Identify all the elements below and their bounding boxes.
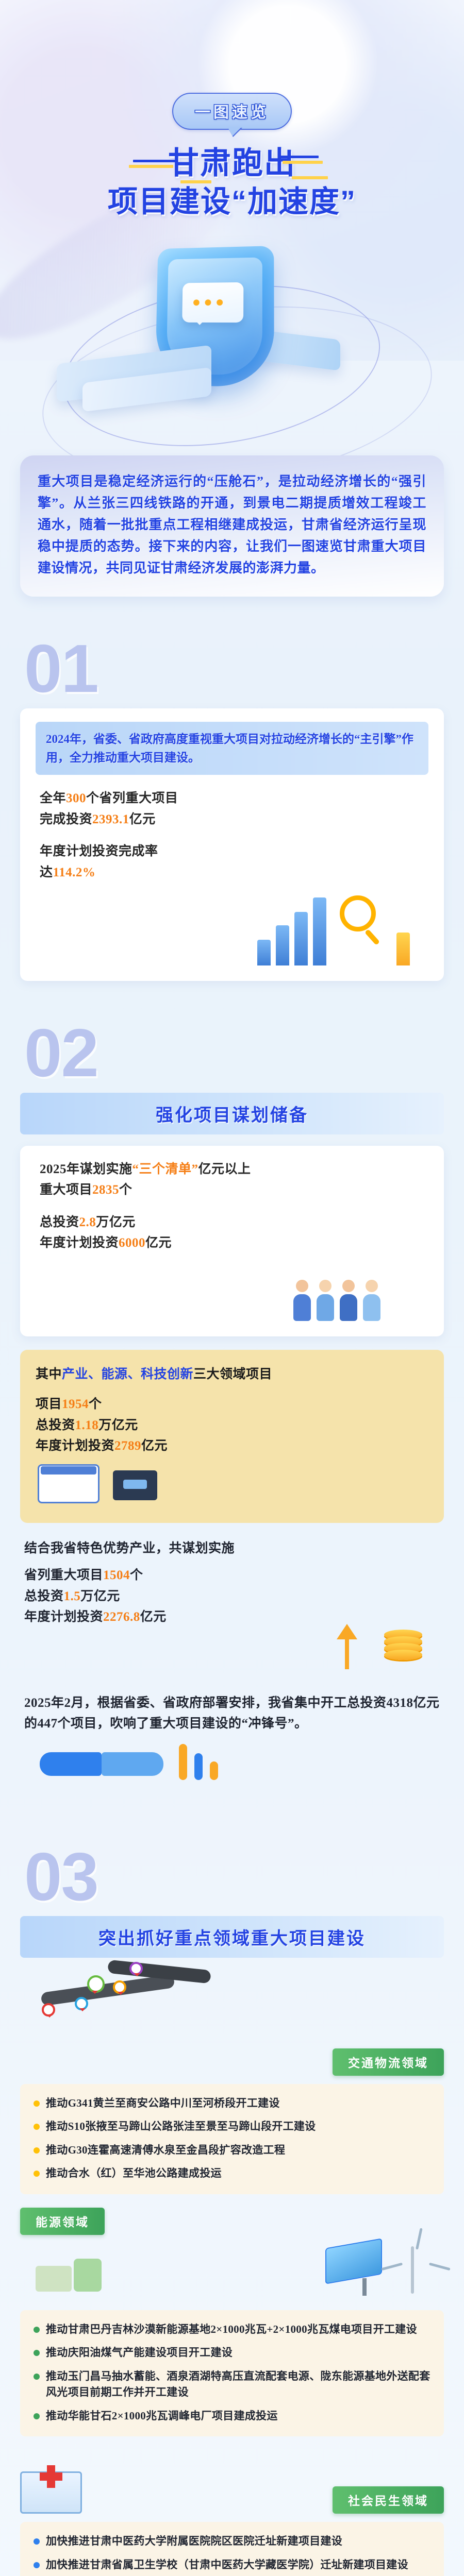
stat-row: 2025年谋划实施“三个清单”亿元以上 (40, 1159, 428, 1180)
domain-badge-row-social: 社会民生领域 (333, 2486, 444, 2514)
quick-view-badge-label: 一图速览 (195, 104, 269, 121)
domain-energy-list: 推动甘肃巴丹吉林沙漠新能源基地2×1000兆瓦+2×1000兆瓦煤电项目开工建设… (20, 2310, 444, 2437)
domain-badge-row-energy: 能源领域 (20, 2208, 444, 2235)
energy-illustration (20, 2235, 444, 2302)
section-02-card: 2025年谋划实施“三个清单”亿元以上 重大项目2835个 总投资2.8万亿元 … (20, 1146, 444, 1336)
stat-value: 2835 (92, 1183, 119, 1197)
domain-social-list: 加快推进甘肃中医药大学附属医院院区医院迁址新建项目建设 加快推进甘肃省属卫生学校… (20, 2522, 444, 2576)
section-03: 03 突出抓好重点领域重大项目建设 交通物流领域 (20, 1849, 444, 2576)
stat-row: 项目1954个 (36, 1394, 428, 1415)
list-item-text: 推动G341黄兰至商安公路中川至河桥段开工建设 (46, 2095, 280, 2112)
stat-row: 全年300个省列重大项目 (40, 788, 428, 809)
list-item: 加快推进甘肃中医药大学附属医院院区医院迁址新建项目建设 (34, 2533, 430, 2550)
stat-suffix: 个 (130, 1568, 143, 1582)
people-illustration (36, 1254, 428, 1321)
amber-headline-highlight: 产业、能源、科技创新 (62, 1367, 193, 1381)
list-item-text: 推动华能甘石2×1000兆瓦调峰电厂项目建成投运 (46, 2408, 278, 2425)
bar-icon (194, 1753, 203, 1780)
intro-card: 重大项目是稳定经济运行的“压舱石”，是拉动经济增长的“强引擎”。从兰张三四线铁路… (20, 455, 444, 597)
dashboard-titlebar (41, 1466, 96, 1475)
chat-bubble-icon (182, 282, 243, 323)
list-item-text: 推动庆阳油煤气产能建设项目开工建设 (46, 2345, 233, 2361)
chart-bar (294, 912, 308, 965)
stat-prefix: 省列重大项目 (24, 1568, 103, 1582)
hand-right-icon (102, 1752, 163, 1776)
section-02-stats: 2025年谋划实施“三个清单”亿元以上 重大项目2835个 总投资2.8万亿元 … (36, 1159, 428, 1254)
chart-bar (276, 925, 289, 965)
section-03-banner: 突出抓好重点领域重大项目建设 (20, 1916, 444, 1958)
stat-prefix: 总投资 (40, 1215, 79, 1229)
stat-suffix: 个 (89, 1397, 102, 1411)
list-item-text: 加快推进甘肃省属卫生学校（甘肃中医药大学藏医学院）迁址新建项目建设 (46, 2557, 408, 2573)
stat-row: 总投资1.18万亿元 (36, 1415, 428, 1436)
bar-icon (210, 1761, 218, 1780)
section-02-banner-title: 强化项目谋划储备 (29, 1101, 435, 1126)
stat-prefix: 年度计划投资完成率 (40, 844, 158, 858)
stat-suffix: 万亿元 (80, 1589, 120, 1603)
stat-row: 达114.2% (40, 862, 428, 884)
stat-value: 6000 (119, 1236, 145, 1250)
bullet-dot-icon (34, 2327, 40, 2333)
section-01-lead-text: 2024年，省委、省政府高度重视重大项目对拉动经济增长的“主引擎”作用，全力推动… (46, 730, 418, 767)
solar-panel-pole (362, 2278, 367, 2296)
domain-energy: 能源领域 推动甘肃巴丹吉林沙漠新能源基地2×1000兆瓦+2×1000兆瓦煤电项… (20, 2208, 444, 2437)
stat-suffix: 亿元 (129, 812, 156, 826)
hand-left-icon (40, 1752, 102, 1776)
stat-value: 2789 (114, 1439, 141, 1453)
stat-suffix: 万亿元 (96, 1215, 136, 1229)
page-title: 甘肃跑出 项目建设“加速度” (0, 144, 464, 221)
bullet-dot-icon (34, 2171, 40, 2177)
domain-badge-energy: 能源领域 (20, 2208, 105, 2235)
stat-prefix: 项目 (36, 1397, 62, 1411)
section-02: 02 强化项目谋划储备 2025年谋划实施“三个清单”亿元以上 重大项目2835… (20, 1025, 444, 1804)
list-item: 推动玉门昌马抽水蓄能、酒泉酒湖特高压直流配套电源、陇东能源基地外送配套风光项目前… (34, 2368, 430, 2401)
bar-icon (179, 1744, 187, 1780)
stat-row: 年度计划投资2276.8亿元 (24, 1607, 440, 1628)
stat-prefix: 重大项目 (40, 1183, 92, 1197)
road-illustration (20, 1958, 444, 2035)
chart-bar-accent (396, 933, 410, 965)
hero-illustration (0, 226, 464, 432)
domain-badge-social: 社会民生领域 (333, 2486, 444, 2514)
list-item: 推动S10张掖至马蹄山公路张洼至景至马蹄山段开工建设 (34, 2119, 430, 2135)
stat-value: 1.5 (64, 1589, 81, 1603)
stat-value: 2276.8 (103, 1610, 140, 1624)
section-02-amber-card: 其中产业、能源、科技创新三大领域项目 项目1954个 总投资1.18万亿元 年度… (20, 1350, 444, 1523)
bullet-dot-icon (34, 2374, 40, 2380)
stat-value: 1.18 (75, 1418, 99, 1432)
wind-turbine-blade (429, 2263, 451, 2271)
map-pin-icon (113, 1980, 126, 1994)
map-pin-icon (87, 1975, 105, 1993)
bullet-dot-icon (34, 2413, 40, 2419)
stat-row: 重大项目2835个 (40, 1180, 428, 1201)
chart-illustration (36, 888, 428, 965)
stat-row: 总投资1.5万亿元 (24, 1586, 440, 1607)
green-ground-icon (36, 2266, 72, 2292)
solar-panel-icon (325, 2238, 382, 2284)
section-01-number: 01 (20, 641, 444, 697)
stat-row: 年度计划投资6000亿元 (40, 1233, 428, 1254)
section-01-lead-box: 2024年，省委、省政府高度重视重大项目对拉动经济增长的“主引擎”作用，全力推动… (36, 722, 428, 775)
list-item: 推动庆阳油煤气产能建设项目开工建设 (34, 2345, 430, 2361)
page-title-line-1: 甘肃跑出 (0, 144, 464, 182)
stat-suffix: 亿元 (141, 1439, 168, 1453)
list-item: 推动G30连霍高速清傅水泉至金昌段扩容改造工程 (34, 2142, 430, 2159)
domain-social: 社会民生领域 加快推进甘肃中医药大学附属医院院区医院迁址新建项目建设 加快推进甘… (20, 2457, 444, 2576)
bullet-dot-icon (34, 2538, 40, 2545)
stat-row: 完成投资2393.1亿元 (40, 809, 428, 831)
growth-arrow-icon (337, 1624, 357, 1639)
list-item-text: 推动玉门昌马抽水蓄能、酒泉酒湖特高压直流配套电源、陇东能源基地外送配套风光项目前… (46, 2368, 430, 2401)
money-illustration (24, 1628, 440, 1690)
section-03-number: 03 (20, 1849, 444, 1905)
section-01-card: 2024年，省委、省政府高度重视重大项目对拉动经济增长的“主引擎”作用，全力推动… (20, 708, 444, 981)
stat-prefix: 年度计划投资 (40, 1236, 119, 1250)
handshake-illustration (24, 1738, 440, 1805)
map-pin-icon (42, 2003, 55, 2016)
stat-value: “三个清单” (132, 1162, 198, 1176)
section-02-banner: 强化项目谋划储备 (20, 1093, 444, 1134)
stat-prefix: 达 (40, 866, 53, 879)
amber-illustration (36, 1461, 428, 1507)
magnifier-icon (340, 895, 376, 931)
bullet-dot-icon (34, 2147, 40, 2154)
chart-bar (313, 897, 326, 965)
stat-suffix: 个 (119, 1183, 132, 1197)
stat-value: 2.8 (79, 1215, 96, 1229)
stat-row: 省列重大项目1504个 (24, 1565, 440, 1586)
infographic-page: 一图速览 甘肃跑出 项目建设“加速度” 重大项目是稳定经济运行的“压舱石 (0, 0, 464, 2576)
list-item: 推动G341黄兰至商安公路中川至河桥段开工建设 (34, 2095, 430, 2112)
stat-value: 2393.1 (92, 812, 129, 826)
section-03-banner-title: 突出抓好重点领域重大项目建设 (29, 1924, 435, 1950)
stat-prefix: 全年 (40, 791, 66, 805)
amber-headline-prefix: 其中 (36, 1367, 62, 1381)
person-figure (293, 1280, 311, 1321)
chart-bar (257, 940, 271, 965)
map-pin-icon (75, 1997, 88, 2010)
domain-transport-list: 推动G341黄兰至商安公路中川至河桥段开工建设 推动S10张掖至马蹄山公路张洼至… (20, 2084, 444, 2194)
stat-suffix: 亿元 (145, 1236, 172, 1250)
section-02-closing-text: 2025年2月，根据省委、省政府部署安排，我省集中开工总投资4318亿元的447… (24, 1693, 440, 1735)
quick-view-badge: 一图速览 (172, 93, 292, 130)
stat-row: 总投资2.8万亿元 (40, 1212, 428, 1233)
stat-prefix: 2025年谋划实施 (40, 1162, 132, 1176)
section-01-stats: 全年300个省列重大项目 完成投资2393.1亿元 年度计划投资完成率 达114… (36, 788, 428, 883)
person-figure (317, 1280, 334, 1321)
wind-turbine-blade (381, 2263, 403, 2271)
page-title-line-2: 项目建设“加速度” (0, 184, 464, 221)
stat-suffix: 亿元 (140, 1610, 167, 1624)
stat-suffix: 万亿元 (98, 1418, 138, 1432)
list-item: 推动合水（红）至华池公路建成投运 (34, 2165, 430, 2182)
hospital-illustration (20, 2457, 82, 2514)
list-item-text: 推动G30连霍高速清傅水泉至金昌段扩容改造工程 (46, 2142, 285, 2159)
chat-dots (193, 299, 223, 306)
plain-headline: 结合我省特色优势产业，共谋划实施 (24, 1538, 440, 1560)
monitor-screen-bubble (123, 1480, 147, 1489)
section-02-plain-block: 结合我省特色优势产业，共谋划实施 省列重大项目1504个 总投资1.5万亿元 年… (20, 1538, 444, 1805)
stat-suffix: 亿元以上 (198, 1162, 251, 1176)
stat-prefix: 总投资 (36, 1418, 75, 1432)
amber-headline-suffix: 三大领域项目 (193, 1367, 272, 1381)
stat-value: 1504 (103, 1568, 130, 1582)
stat-value: 114.2% (53, 866, 96, 879)
coin-stack-icon (384, 1633, 422, 1660)
tree-icon (74, 2259, 102, 2292)
list-item-text: 加快推进甘肃中医药大学附属医院院区医院迁址新建项目建设 (46, 2533, 342, 2550)
stat-value: 300 (66, 791, 86, 805)
magnifier-handle (364, 929, 380, 945)
badge-container: 一图速览 (0, 0, 464, 130)
stat-suffix: 个省列重大项目 (86, 791, 178, 805)
amber-headline: 其中产业、能源、科技创新三大领域项目 (36, 1364, 428, 1385)
bullet-dot-icon (34, 2350, 40, 2356)
map-pin-icon (129, 1962, 143, 1975)
list-item-text: 推动S10张掖至马蹄山公路张洼至景至马蹄山段开工建设 (46, 2119, 316, 2135)
stat-prefix: 完成投资 (40, 812, 92, 826)
list-item: 推动甘肃巴丹吉林沙漠新能源基地2×1000兆瓦+2×1000兆瓦煤电项目开工建设 (34, 2321, 430, 2338)
road-segment (40, 1974, 175, 2006)
list-item-text: 推动合水（红）至华池公路建成投运 (46, 2165, 222, 2182)
person-figure (363, 1280, 380, 1321)
stat-value: 1954 (62, 1397, 89, 1411)
bullet-dot-icon (34, 2124, 40, 2130)
list-item: 推动华能甘石2×1000兆瓦调峰电厂项目建成投运 (34, 2408, 430, 2425)
section-01: 01 2024年，省委、省政府高度重视重大项目对拉动经济增长的“主引擎”作用，全… (20, 641, 444, 981)
bullet-dot-icon (34, 2562, 40, 2568)
domain-badge-row-transport: 交通物流领域 (20, 2048, 444, 2076)
stat-prefix: 总投资 (24, 1589, 64, 1603)
stat-row: 年度计划投资完成率 (40, 841, 428, 862)
medical-cross-icon-bar (40, 2472, 62, 2481)
list-item: 加快推进甘肃省属卫生学校（甘肃中医药大学藏医学院）迁址新建项目建设 (34, 2557, 430, 2573)
domain-badge-transport: 交通物流领域 (333, 2048, 444, 2076)
person-figure (340, 1280, 357, 1321)
list-item-text: 推动甘肃巴丹吉林沙漠新能源基地2×1000兆瓦+2×1000兆瓦煤电项目开工建设 (46, 2321, 417, 2338)
section-02-number: 02 (20, 1025, 444, 1081)
bullet-dot-icon (34, 2100, 40, 2107)
stat-prefix: 年度计划投资 (24, 1610, 103, 1624)
growth-arrow-stem (345, 1638, 349, 1669)
wind-turbine-tower (411, 2246, 414, 2294)
intro-text: 重大项目是稳定经济运行的“压舱石”，是拉动经济增长的“强引擎”。从兰张三四线铁路… (38, 471, 426, 580)
stat-prefix: 年度计划投资 (36, 1439, 114, 1453)
stat-row: 年度计划投资2789亿元 (36, 1436, 428, 1457)
domain-transport: 交通物流领域 推动G341黄兰至商安公路中川至河桥段开工建设 推动S10张掖至马… (20, 1958, 444, 2194)
